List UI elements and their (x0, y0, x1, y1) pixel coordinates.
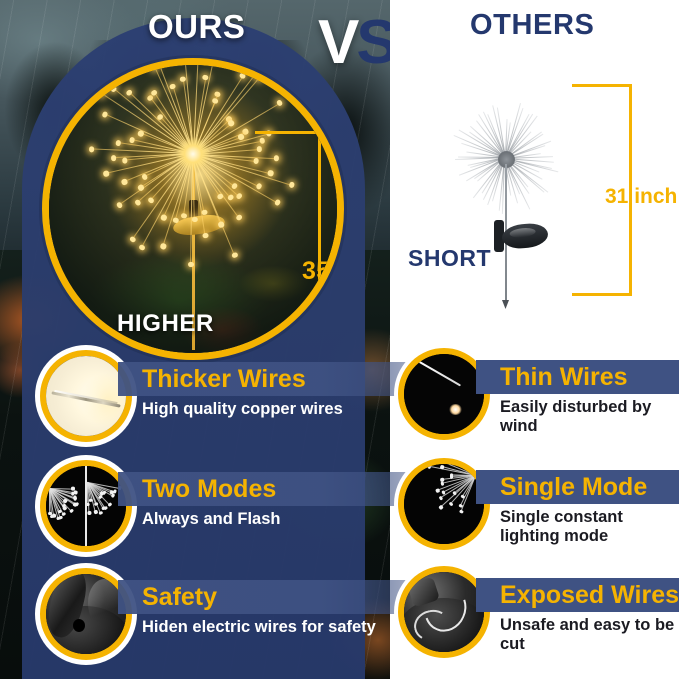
ours-heading: OURS (148, 8, 245, 46)
ours-feature-row-two-modes: Two Modes Always and Flash (40, 460, 370, 560)
ours-measure-tick-top (255, 131, 321, 134)
comparison-infographic: 35 inch HIGHER OURS VS OTHERS 31 inch SH… (0, 0, 679, 679)
others-measure-label: 31 inch (605, 185, 677, 209)
others-wire-hub (498, 151, 515, 168)
ours-feature-row-thicker-wires: Thicker Wires High quality copper wires (40, 350, 370, 450)
others-feature-subtitle-2: Single constant lighting mode (500, 508, 679, 546)
others-heading: OTHERS (470, 9, 594, 42)
others-feature-row-single-mode: Single Mode Single constant lighting mod… (398, 458, 679, 558)
ours-feature-row-safety: Safety Hiden electric wires for safety (40, 568, 370, 673)
others-solar-panel (501, 222, 549, 251)
others-feature-title-2: Single Mode (476, 475, 647, 500)
ours-measure-line (318, 131, 321, 360)
others-measure-tick-top (572, 84, 632, 87)
ours-feature-subtitle-3: Hiden electric wires for safety (142, 618, 392, 637)
others-product-illustration (450, 78, 560, 308)
others-feature-title-1: Thin Wires (476, 365, 628, 390)
others-ground-stake-tip (502, 300, 509, 309)
others-feature-title-band-1: Thin Wires (476, 360, 679, 394)
others-feature-title-3: Exposed Wires (476, 583, 679, 608)
ours-feature-title-band-1: Thicker Wires (118, 362, 408, 396)
others-short-badge: SHORT (408, 245, 491, 272)
ours-higher-badge: HIGHER (117, 310, 214, 338)
others-feature-subtitle-1: Easily disturbed by wind (500, 398, 679, 436)
ours-hero-circle: 35 inch HIGHER (42, 58, 344, 360)
versus-letter-s: S (356, 8, 394, 77)
others-feature-title-band-3: Exposed Wires (476, 578, 679, 612)
versus-letter-v: V (318, 8, 356, 77)
ours-feature-title-1: Thicker Wires (118, 367, 306, 392)
others-feature-row-thin-wires: Thin Wires Easily disturbed by wind (398, 348, 679, 448)
versus-badge: VS (318, 12, 395, 74)
others-feature-row-exposed-wires: Exposed Wires Unsafe and easy to be cut (398, 566, 679, 671)
ours-feature-subtitle-2: Always and Flash (142, 510, 392, 529)
ours-feature-subtitle-1: High quality copper wires (142, 400, 392, 419)
ours-measurement-bracket (239, 131, 321, 360)
others-feature-subtitle-3: Unsafe and easy to be cut (500, 616, 679, 654)
ours-feature-title-band-3: Safety (118, 580, 408, 614)
ours-feature-title-3: Safety (118, 585, 217, 610)
others-measure-tick-bottom (572, 293, 632, 296)
ours-feature-title-band-2: Two Modes (118, 472, 408, 506)
ours-feature-title-2: Two Modes (118, 477, 276, 502)
others-feature-title-band-2: Single Mode (476, 470, 679, 504)
